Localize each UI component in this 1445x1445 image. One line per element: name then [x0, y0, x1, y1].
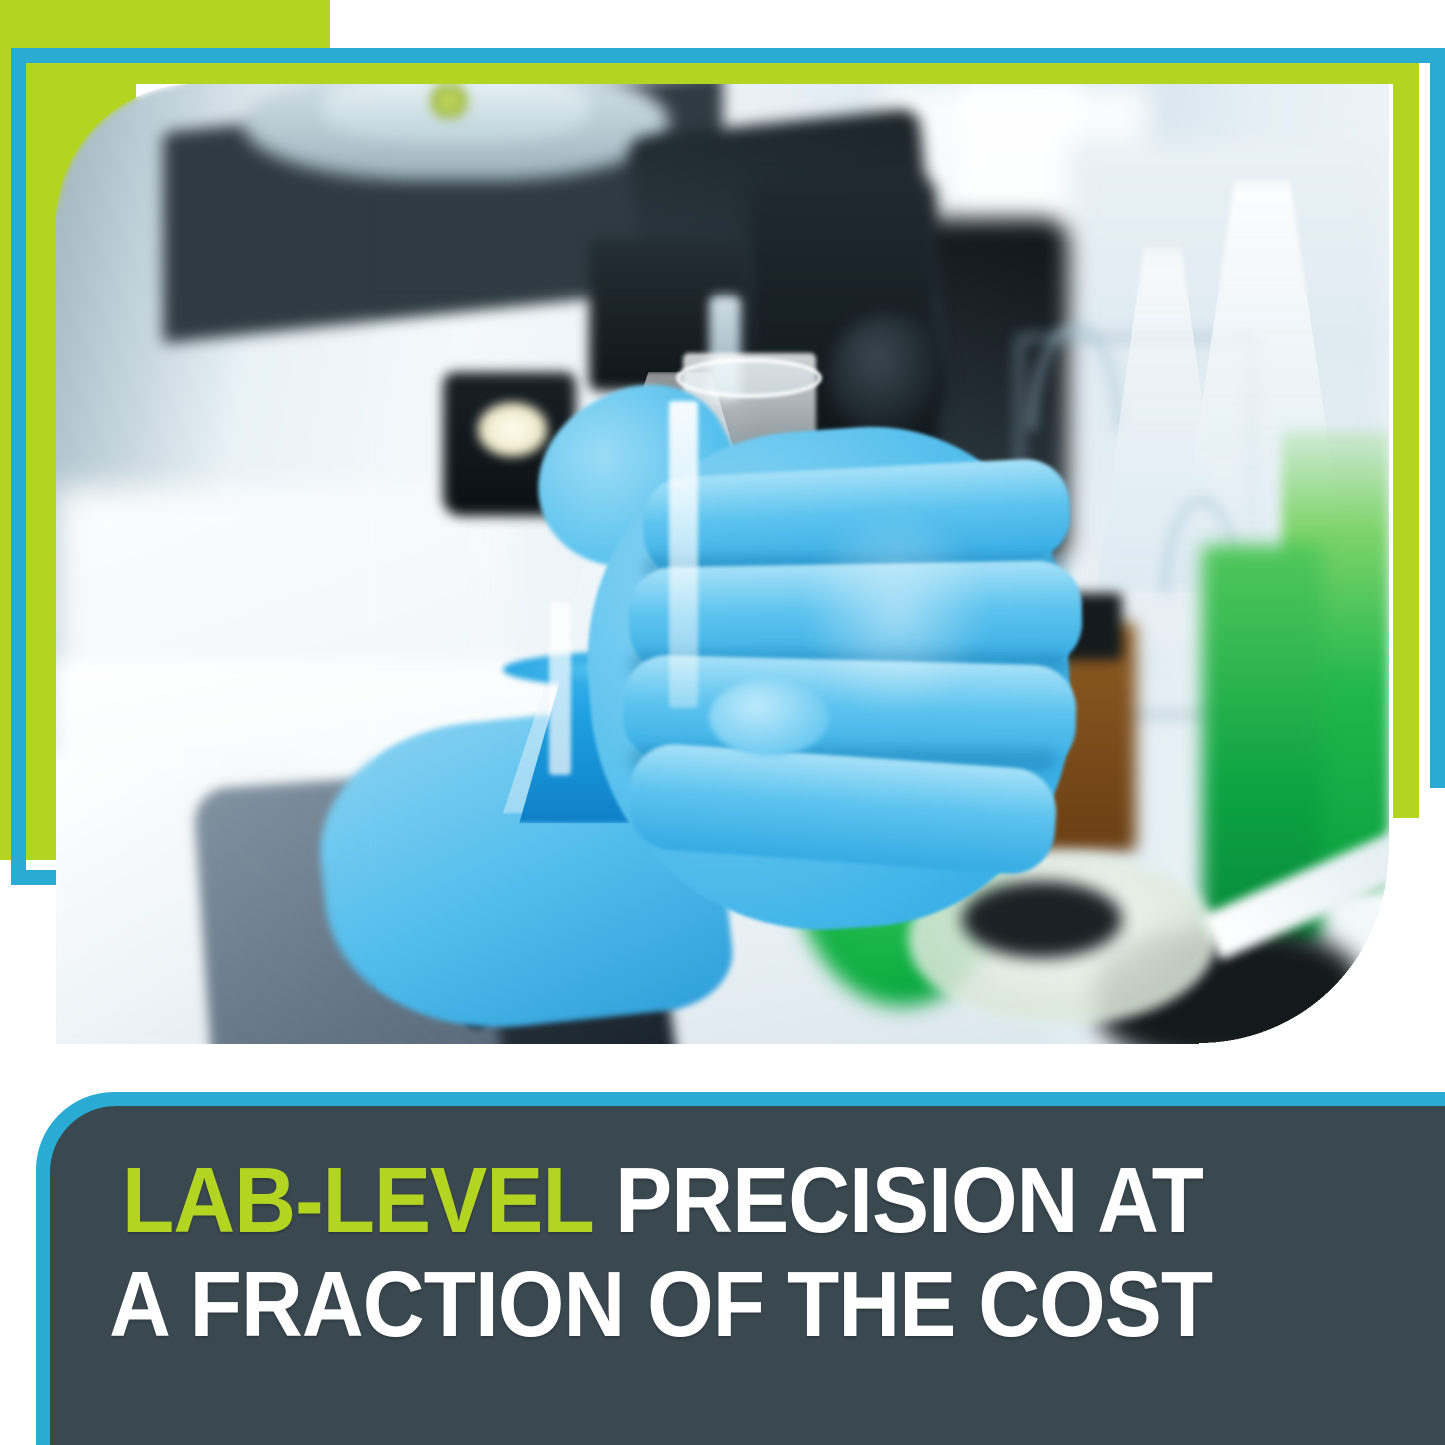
headline-highlight: LAB-LEVEL: [122, 1148, 592, 1252]
petri-dish-contents: [962, 881, 1122, 958]
flask-rim: [676, 358, 823, 398]
glove-highlight: [802, 506, 989, 717]
photo-rounded-corner-mask: [1199, 854, 1389, 1044]
photo-depth-blur-left: [56, 84, 376, 1044]
headline-text: LAB-LEVEL PRECISION AT A FRACTION OF THE…: [122, 1148, 1302, 1356]
poster-canvas: LAB-LEVEL PRECISION AT A FRACTION OF THE…: [0, 0, 1445, 1445]
flask-glass-highlight-2: [549, 602, 570, 775]
flask-glass-highlight: [669, 401, 698, 708]
headline-banner: LAB-LEVEL PRECISION AT A FRACTION OF THE…: [36, 1092, 1445, 1445]
microscope-focus-knob: [829, 314, 949, 439]
headline-line-2: A FRACTION OF THE COST: [109, 1252, 1302, 1356]
microscope-lens-glare: [476, 401, 549, 459]
headline-rest: PRECISION AT: [592, 1148, 1203, 1252]
lab-photo: [56, 84, 1389, 1044]
cyan-frame-right-edge: [1430, 48, 1445, 788]
